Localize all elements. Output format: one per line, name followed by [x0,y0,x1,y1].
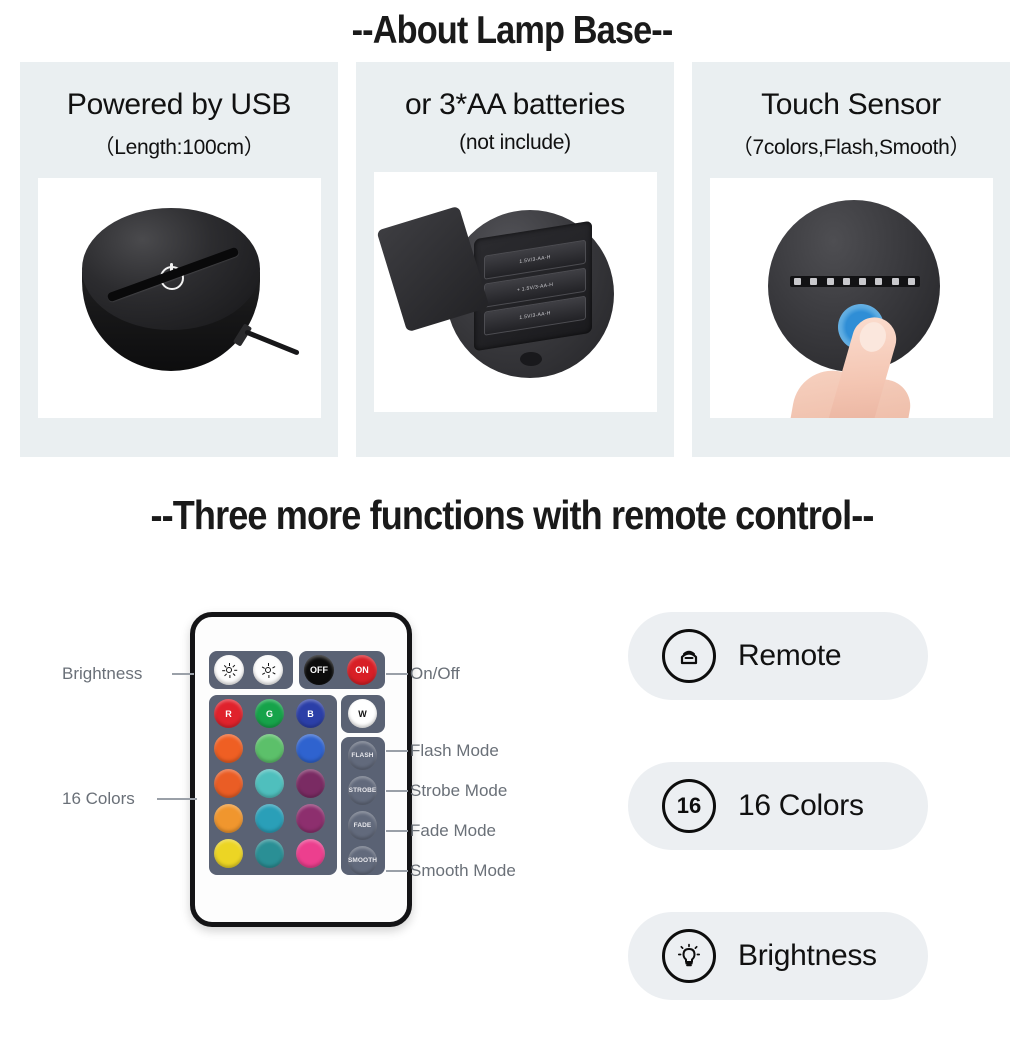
card-title: or 3*AA batteries [405,88,625,122]
card-subtitle: （7colors,Flash,Smooth） [732,131,971,161]
led-chip [827,278,834,285]
sixteen-badge-number: 16 [677,793,701,819]
led-chip [794,278,801,285]
color-button-label: B [307,709,314,719]
battery-compartment-photo: 1.5V/3-AA-H + 1.5V/3-AA-H 1.5V/3-AA-H [374,172,657,412]
strobe-mode-button[interactable]: STROBE [348,776,377,805]
feature-pill-label: Remote [738,639,841,673]
color-button-green[interactable]: G [255,699,284,728]
bulb-icon [662,929,716,983]
led-chip [908,278,915,285]
infographic-page: --About Lamp Base-- Powered by USB （Leng… [0,0,1024,1024]
rubber-foot [520,352,542,366]
feature-pill-label: 16 Colors [738,789,864,823]
color-button-label: R [225,709,232,719]
color-button[interactable] [296,734,325,763]
leader-line-16-colors [157,798,197,800]
callout-flash-mode: Flash Mode [410,741,499,761]
leader-line-brightness [172,673,194,675]
remote-control-body: OFF ON R G B W [190,612,412,927]
flash-mode-button[interactable]: FLASH [348,741,377,770]
battery-well: 1.5V/3-AA-H + 1.5V/3-AA-H 1.5V/3-AA-H [474,221,592,352]
color-button-red[interactable]: R [214,699,243,728]
card-title: Powered by USB [67,88,291,122]
card-subtitle: (not include) [459,131,571,155]
color-button[interactable] [255,804,284,833]
led-strip [790,276,920,287]
leader-line-flash-mode [386,750,408,752]
mode-button-label: STROBE [349,787,377,794]
remote-signal-icon [662,629,716,683]
remote-control-diagram: OFF ON R G B W [190,612,402,917]
color-button[interactable] [255,769,284,798]
color-button[interactable] [214,734,243,763]
off-button-label: OFF [310,665,328,675]
callout-smooth-mode: Smooth Mode [410,861,516,881]
leader-line-strobe-mode [386,790,408,792]
feature-pill-16-colors: 16 16 Colors [628,762,928,850]
lamp-base-card-row: Powered by USB （Length:100cm） or 3*AA ba… [20,62,1010,457]
color-button[interactable] [255,734,284,763]
card-touch-sensor: Touch Sensor （7colors,Flash,Smooth） [692,62,1010,457]
color-button[interactable] [296,804,325,833]
smooth-mode-button[interactable]: SMOOTH [348,846,377,875]
led-chip [843,278,850,285]
leader-line-on-off [386,673,408,675]
brightness-down-button[interactable] [253,655,283,685]
led-chip [859,278,866,285]
sixteen-badge-icon: 16 [662,779,716,833]
mode-button-label: FADE [354,822,372,829]
feature-pill-brightness: Brightness [628,912,928,1000]
card-subtitle: （Length:100cm） [94,131,265,161]
callout-strobe-mode: Strobe Mode [410,781,507,801]
on-button-label: ON [355,665,369,675]
white-button-label: W [358,709,367,719]
feature-pill-list: Remote 16 16 Colors Brightness [628,612,928,1062]
usb-lamp-base-photo [38,178,321,418]
color-button[interactable] [296,839,325,868]
leader-line-smooth-mode [386,870,408,872]
brightness-up-button[interactable] [214,655,244,685]
color-button-blue[interactable]: B [296,699,325,728]
off-button[interactable]: OFF [304,655,334,685]
card-aa-batteries: or 3*AA batteries (not include) 1.5V/3-A… [356,62,674,457]
color-button[interactable] [255,839,284,868]
card-powered-by-usb: Powered by USB （Length:100cm） [20,62,338,457]
callout-fade-mode: Fade Mode [410,821,496,841]
fade-mode-button[interactable]: FADE [348,811,377,840]
color-button[interactable] [214,839,243,868]
led-chip [810,278,817,285]
lamp-base-top-surface [82,208,260,330]
color-button-label: G [266,709,273,719]
fingernail [856,319,889,355]
led-chip [892,278,899,285]
mode-button-label: SMOOTH [348,857,377,864]
color-button[interactable] [214,769,243,798]
callout-on-off: On/Off [410,664,460,684]
color-button-white[interactable]: W [348,699,377,728]
touch-sensor-photo [710,178,993,418]
color-button[interactable] [296,769,325,798]
feature-pill-label: Brightness [738,939,877,973]
led-chip [875,278,882,285]
feature-pill-remote: Remote [628,612,928,700]
mode-button-label: FLASH [351,752,373,759]
color-button[interactable] [214,804,243,833]
sun-icon [262,664,275,677]
page-title-about-lamp-base: --About Lamp Base-- [61,9,962,53]
usb-cable [244,329,300,355]
callout-16-colors: 16 Colors [62,789,135,809]
on-button[interactable]: ON [347,655,377,685]
sun-icon [223,664,236,677]
section-title-remote-functions: --Three more functions with remote contr… [61,492,962,539]
leader-line-fade-mode [386,830,408,832]
callout-brightness: Brightness [62,664,142,684]
card-title: Touch Sensor [761,88,941,122]
